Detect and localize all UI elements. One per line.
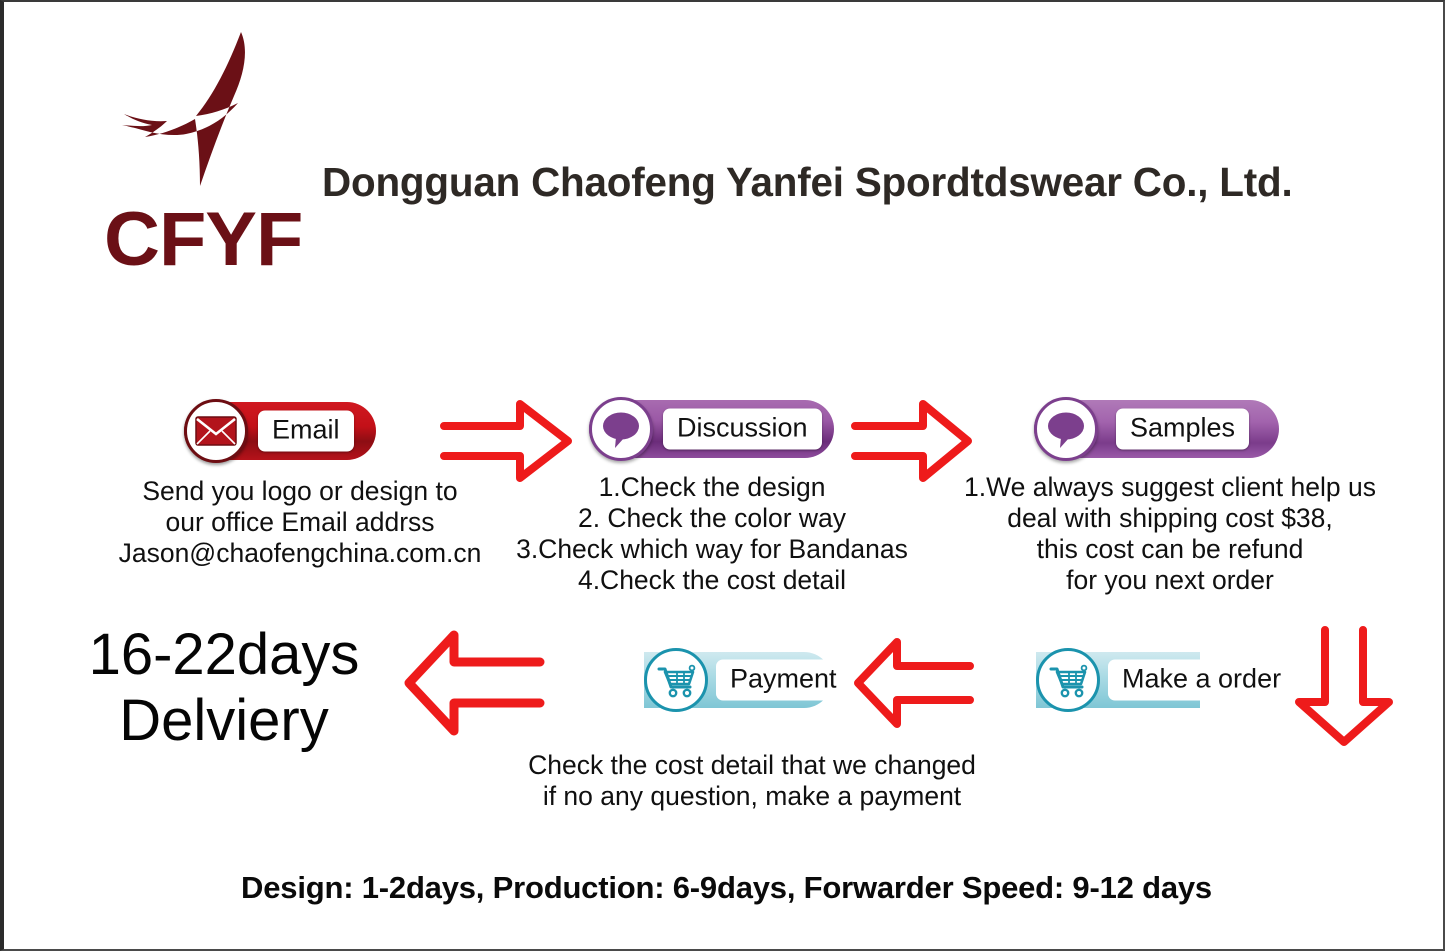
delivery-duration-text: 16-22days Delviery	[44, 622, 404, 754]
badge-label-samples: Samples	[1116, 409, 1249, 450]
step-badge-samples[interactable]: Samples	[1034, 400, 1279, 458]
envelope-icon	[184, 399, 248, 463]
step-badge-email[interactable]: Email	[184, 402, 376, 460]
step-badge-make-a-order[interactable]: Make a order	[1036, 652, 1200, 708]
badge-label-email: Email	[258, 411, 354, 452]
caption-discussion: 1.Check the design 2. Check the color wa…	[504, 472, 920, 596]
footer-timeline-note: Design: 1-2days, Production: 6-9days, Fo…	[4, 868, 1445, 908]
swallow-bird-logo-icon	[110, 26, 290, 206]
company-title: Dongguan Chaofeng Yanfei Spordtdswear Co…	[322, 159, 1366, 205]
step-badge-payment[interactable]: Payment	[644, 652, 832, 708]
arrow-order-to-payment-icon	[852, 636, 976, 730]
speech-bubble-icon	[1034, 397, 1098, 461]
arrow-payment-to-delivery-icon	[402, 628, 546, 738]
cfyf-wordmark: CFYF	[104, 202, 302, 278]
flowchart-poster: CFYF Dongguan Chaofeng Yanfei Spordtdswe…	[0, 0, 1445, 951]
caption-payment: Check the cost detail that we changed if…	[504, 750, 1000, 812]
arrow-samples-to-order-icon	[1292, 624, 1396, 748]
badge-label-discussion: Discussion	[663, 409, 822, 450]
brand-logo: CFYF	[100, 26, 330, 276]
step-badge-discussion[interactable]: Discussion	[589, 400, 834, 458]
badge-label-payment: Payment	[716, 660, 851, 701]
shopping-cart-icon	[644, 648, 708, 712]
caption-samples: 1.We always suggest client help us deal …	[948, 472, 1392, 596]
badge-label-make-a-order: Make a order	[1108, 660, 1295, 701]
shopping-cart-icon	[1036, 648, 1100, 712]
caption-email: Send you logo or design to our office Em…	[82, 476, 518, 569]
speech-bubble-icon	[589, 397, 653, 461]
